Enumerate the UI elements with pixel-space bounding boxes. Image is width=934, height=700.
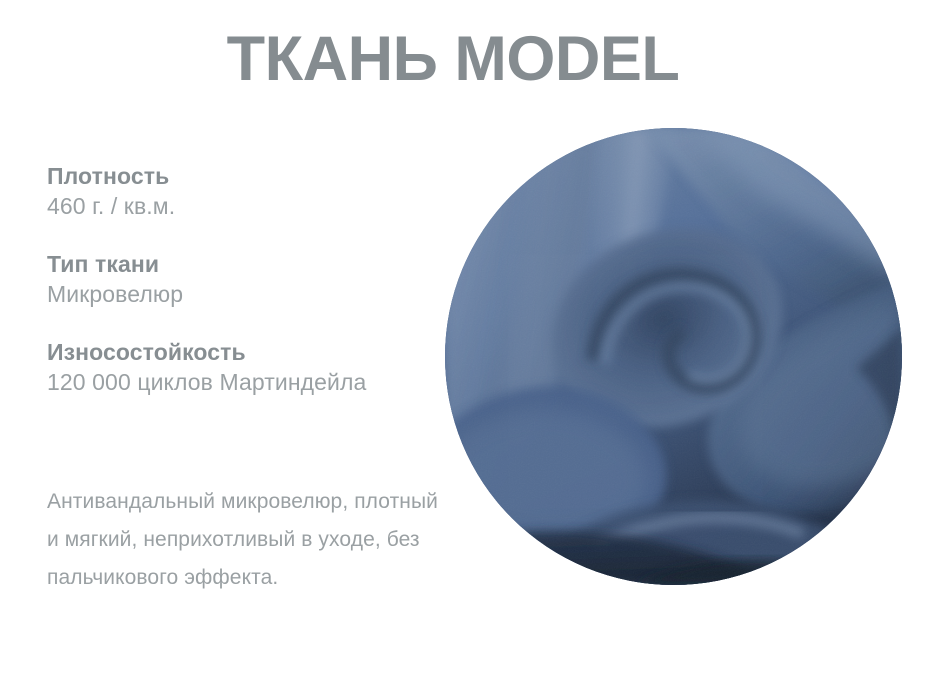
spec-value-durability: 120 000 циклов Мартиндейла <box>47 367 427 397</box>
specs-list: Плотность 460 г. / кв.м. Тип ткани Микро… <box>47 162 427 397</box>
spec-value-fabric-type: Микровелюр <box>47 279 427 309</box>
spec-label-density: Плотность <box>47 162 427 191</box>
fabric-info-slide: ТКАНЬ MODEL Плотность 460 г. / кв.м. Тип… <box>0 0 934 700</box>
description-text: Антивандальный микровелюр, плотный и мяг… <box>47 483 447 598</box>
fabric-swatch-circle <box>445 128 902 585</box>
spec-item-density: Плотность 460 г. / кв.м. <box>47 162 427 222</box>
spec-item-fabric-type: Тип ткани Микровелюр <box>47 250 427 310</box>
spec-label-fabric-type: Тип ткани <box>47 250 427 279</box>
fabric-illustration <box>445 128 902 585</box>
spec-value-density: 460 г. / кв.м. <box>47 191 427 221</box>
spec-label-durability: Износостойкость <box>47 338 427 367</box>
page-title: ТКАНЬ MODEL <box>0 26 906 92</box>
spec-item-durability: Износостойкость 120 000 циклов Мартиндей… <box>47 338 427 398</box>
